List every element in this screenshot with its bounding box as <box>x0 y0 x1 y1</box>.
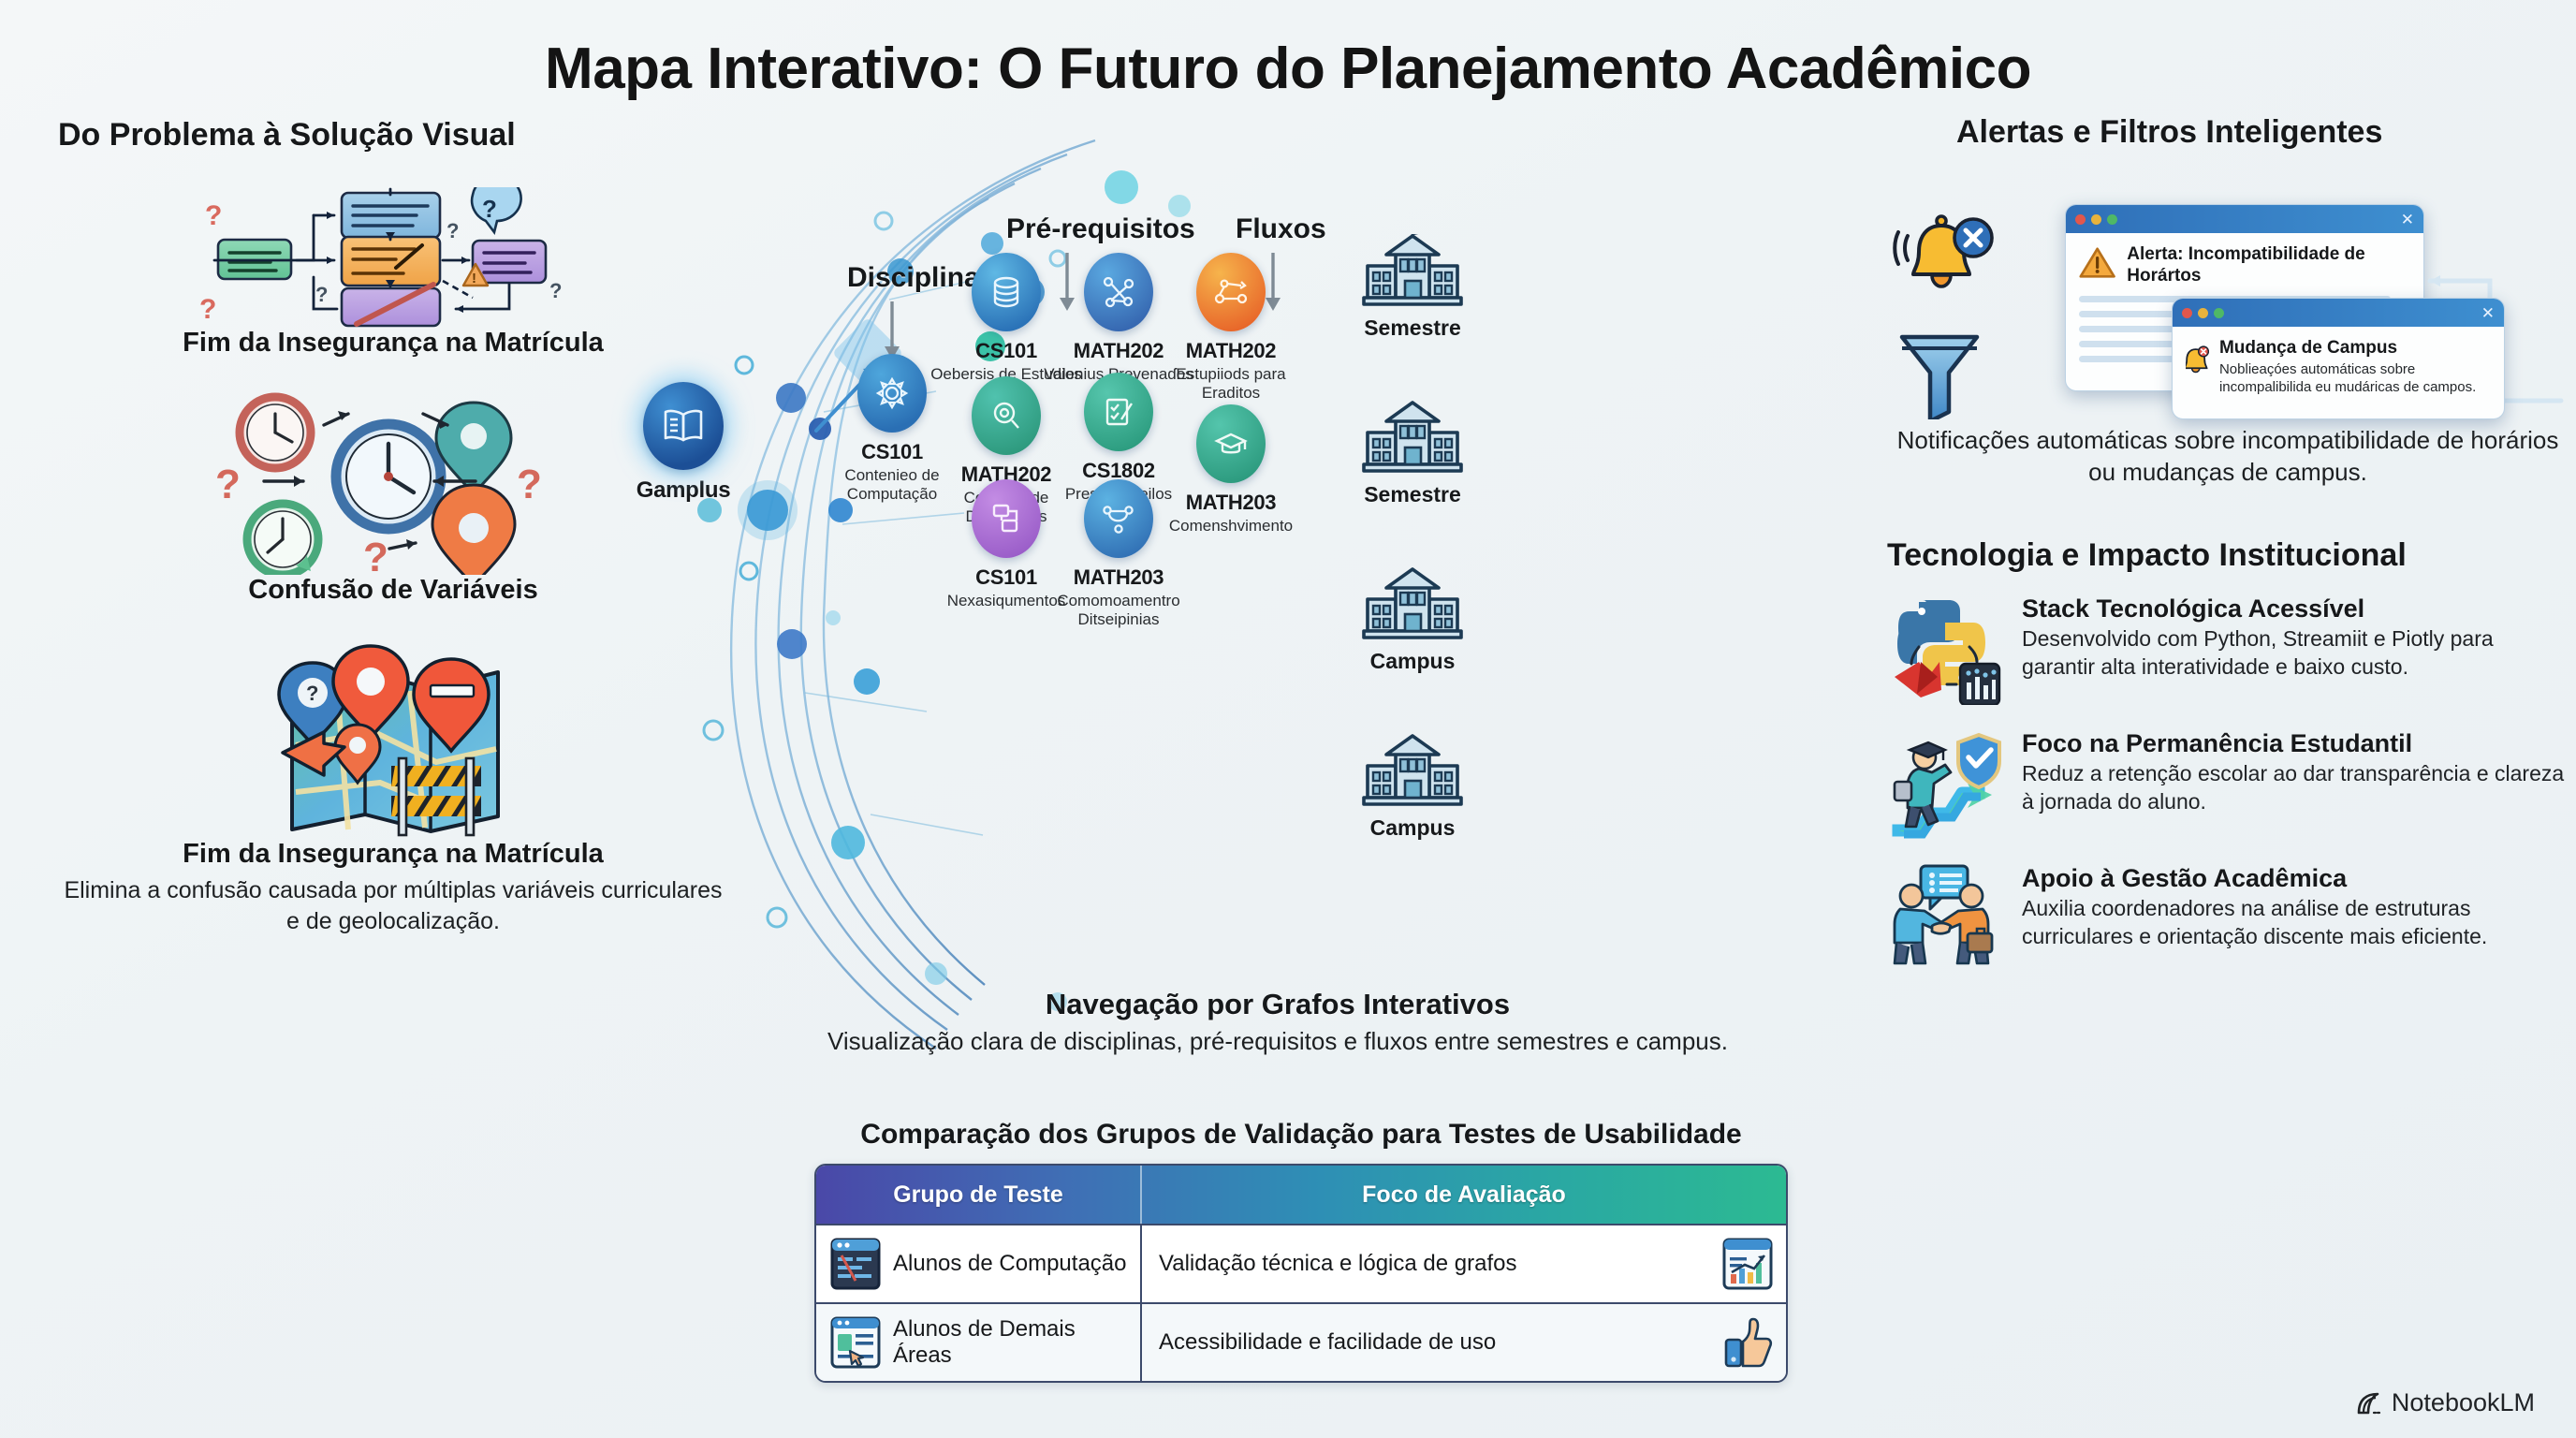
svg-text:?: ? <box>517 462 542 507</box>
svg-text:?: ? <box>215 462 241 507</box>
svg-text:?: ? <box>363 535 388 575</box>
graph-visualization[interactable]: Disciplinas Pré-requisitos Fluxos <box>655 131 1872 1067</box>
filter-funnel-icon <box>1896 330 1983 419</box>
feature-item-1: Foco na Permanência Estudantil Reduz a r… <box>1891 729 2565 840</box>
table-col-header-focus: Foco de Avaliação <box>1142 1166 1786 1224</box>
bell-muted-icon <box>1891 212 1994 309</box>
alerts-caption: Notificações automáticas sobre incompati… <box>1891 425 2565 489</box>
minimize-dot[interactable] <box>2198 308 2208 318</box>
handshake-icon <box>1891 864 2003 967</box>
close-dot[interactable] <box>2182 308 2192 318</box>
left-block-2-caption: Confusão de Variáveis <box>56 575 730 606</box>
feature-2-title: Apoio à Gestão Acadêmica <box>2022 864 2565 893</box>
svg-text:?: ? <box>199 294 216 325</box>
ui-cursor-window-icon <box>829 1315 882 1370</box>
university-building-icon <box>1360 567 1465 640</box>
left-block-1-caption: Fim da Insegurança na Matrícula <box>56 328 730 359</box>
graph-building-2-caption: Campus <box>1333 649 1492 674</box>
thumbs-up-icon <box>1720 1315 1775 1370</box>
feature-0-desc: Desenvolvido com Python, Streamiit e Pio… <box>2022 625 2565 682</box>
alert-window-0-title: Alerta: Incompatibilidade de Horártos <box>2127 244 2410 287</box>
comparison-table: Grupo de Teste Foco de Avaliação Alunos … <box>814 1164 1788 1383</box>
table-cell-focus-0-text: Validação técnica e lógica de grafos <box>1159 1251 1516 1277</box>
graph-node-3-code: MATH202 <box>1151 339 1310 363</box>
svg-text:!: ! <box>472 271 476 286</box>
alert-window-1-titlebar: ✕ <box>2173 299 2504 327</box>
university-building-icon <box>1360 734 1465 807</box>
table-row[interactable]: Alunos de Computação Validação técnica e… <box>816 1224 1786 1302</box>
right-column: ✕ Alerta: Incompatibilidade de Horártos <box>1891 187 2565 991</box>
graph-group-label-pre-requisitos: Pré-requisitos <box>1006 213 1195 245</box>
graph-caption-title: Navegação por Grafos Interativos <box>805 988 1750 1021</box>
svg-text:?: ? <box>549 279 562 302</box>
flow-arrow-icon <box>1196 253 1266 331</box>
alert-window-1-sub: Noblieaçóes automáticas sobre incompalib… <box>2219 361 2491 397</box>
network-icon <box>1084 479 1153 558</box>
graph-building-0-caption: Semestre <box>1333 315 1492 341</box>
graph-building-2[interactable]: Campus <box>1333 567 1492 674</box>
bar-chart-window-icon <box>1720 1237 1775 1291</box>
feature-1-desc: Reduz a retenção escolar ao dar transpar… <box>2022 760 2565 816</box>
graduate-growth-shield-icon <box>1891 729 2003 840</box>
table-cell-group-0-text: Alunos de Computação <box>893 1251 1127 1277</box>
graph-node-8-desc: Comomoamentro Ditseipinias <box>1039 592 1198 629</box>
maximize-dot[interactable] <box>2214 308 2224 318</box>
right-column-heading-tech: Tecnologia e Impacto Institucional <box>1887 537 2565 574</box>
left-block-3-caption: Fim da Insegurança na Matrícula <box>56 839 730 870</box>
feature-0-title: Stack Tecnológica Acessível <box>2022 594 2565 624</box>
page-title: Mapa Interativo: O Futuro do Planejament… <box>0 36 2576 102</box>
table-row[interactable]: Alunos de Demais Áreas Acessibilidade e … <box>816 1302 1786 1381</box>
minimize-dot[interactable] <box>2091 214 2101 225</box>
comparison-table-title: Comparação dos Grupos de Validação para … <box>814 1119 1788 1151</box>
alert-window-1[interactable]: ✕ Mudança de Campus Noblieaçóes automáti… <box>2172 298 2505 419</box>
feature-1-title: Foco na Permanência Estudantil <box>2022 729 2565 758</box>
watermark-label: NotebookLM <box>2392 1388 2535 1417</box>
table-cell-focus-1-text: Acessibilidade e facilidade de uso <box>1159 1329 1496 1356</box>
left-column-heading: Do Problema à Solução Visual <box>58 117 516 154</box>
search-node-icon <box>972 376 1041 455</box>
graph-caption: Navegação por Grafos Interativos Visuali… <box>805 988 1750 1057</box>
folded-map-with-pins-illustration: ? <box>206 642 580 839</box>
close-icon[interactable]: ✕ <box>2481 305 2495 321</box>
table-cell-group-1: Alunos de Demais Áreas <box>816 1304 1142 1381</box>
graph-node-gamplus-label: Gamplus <box>604 477 763 504</box>
table-col-header-group: Grupo de Teste <box>816 1166 1142 1224</box>
clocks-and-pins-illustration: ??? <box>206 388 580 575</box>
bell-alert-icon <box>2186 338 2209 377</box>
notebooklm-logo-icon <box>2355 1390 2383 1416</box>
infographic-canvas: Mapa Interativo: O Futuro do Planejament… <box>0 0 2576 1438</box>
table-cell-focus-1: Acessibilidade e facilidade de uso <box>1142 1304 1786 1381</box>
graph-node-8-code: MATH203 <box>1039 565 1198 590</box>
left-column: ?? ??? ! ? Fim da Insegurança na Matrícu… <box>56 187 730 904</box>
warning-triangle-icon <box>2079 244 2115 282</box>
table-cell-focus-0: Validação técnica e lógica de grafos <box>1142 1225 1786 1302</box>
close-dot[interactable] <box>2075 214 2086 225</box>
svg-text:?: ? <box>482 195 497 223</box>
watermark: NotebookLM <box>2355 1388 2535 1417</box>
right-column-heading-alerts: Alertas e Filtros Inteligentes <box>1956 114 2382 151</box>
alert-window-1-body: Mudança de Campus Noblieaçóes automática… <box>2173 327 2504 407</box>
graph-building-3-caption: Campus <box>1333 815 1492 841</box>
svg-text:?: ? <box>205 200 222 231</box>
python-stack-icon <box>1891 594 2003 705</box>
comparison-table-section: Comparação dos Grupos de Validação para … <box>814 1119 1788 1383</box>
code-window-icon <box>829 1237 882 1291</box>
graph-node-gamplus[interactable]: Gamplus <box>604 382 763 504</box>
graph-group-label-fluxos: Fluxos <box>1236 213 1326 245</box>
table-cell-group-0: Alunos de Computação <box>816 1225 1142 1302</box>
university-building-icon <box>1360 401 1465 474</box>
maximize-dot[interactable] <box>2107 214 2117 225</box>
nodes-link-icon <box>972 479 1041 558</box>
alerts-illustration: ✕ Alerta: Incompatibilidade de Horártos <box>1891 187 2565 412</box>
feature-item-2: Apoio à Gestão Acadêmica Auxilia coorden… <box>1891 864 2565 967</box>
graduation-icon <box>1196 404 1266 483</box>
graph-building-1[interactable]: Semestre <box>1333 401 1492 507</box>
left-block-map: ? <box>56 642 730 904</box>
graph-building-1-caption: Semestre <box>1333 482 1492 507</box>
database-icon <box>972 253 1041 331</box>
university-building-icon <box>1360 234 1465 307</box>
graph-caption-sub: Visualização clara de disciplinas, pré-r… <box>805 1026 1750 1057</box>
svg-text:?: ? <box>306 682 318 705</box>
alert-window-1-title: Mudança de Campus <box>2219 338 2491 359</box>
left-block-3-sub: Elimina a confusão causada por múltiplas… <box>56 875 730 936</box>
svg-text:?: ? <box>315 283 328 306</box>
gear-icon <box>857 354 927 433</box>
feature-item-0: Stack Tecnológica Acessível Desenvolvido… <box>1891 594 2565 705</box>
graph-nodes-icon <box>1084 253 1153 331</box>
alert-window-0-titlebar: ✕ <box>2066 205 2423 233</box>
checklist-icon <box>1084 373 1153 451</box>
left-block-flowchart: ?? ??? ! ? Fim da Insegurança na Matrícu… <box>56 187 730 365</box>
graph-building-3[interactable]: Campus <box>1333 734 1492 841</box>
flowchart-confusion-illustration: ?? ??? ! ? <box>192 187 594 328</box>
table-header-row: Grupo de Teste Foco de Avaliação <box>816 1166 1786 1224</box>
open-book-icon <box>643 382 724 470</box>
table-cell-group-1-text: Alunos de Demais Áreas <box>893 1316 1140 1369</box>
feature-2-desc: Auxilia coordenadores na análise de estr… <box>2022 895 2565 951</box>
graph-node-8[interactable]: MATH203 Comomoamentro Ditseipinias <box>1039 479 1198 629</box>
graph-building-0[interactable]: Semestre <box>1333 234 1492 341</box>
svg-text:?: ? <box>446 219 459 242</box>
